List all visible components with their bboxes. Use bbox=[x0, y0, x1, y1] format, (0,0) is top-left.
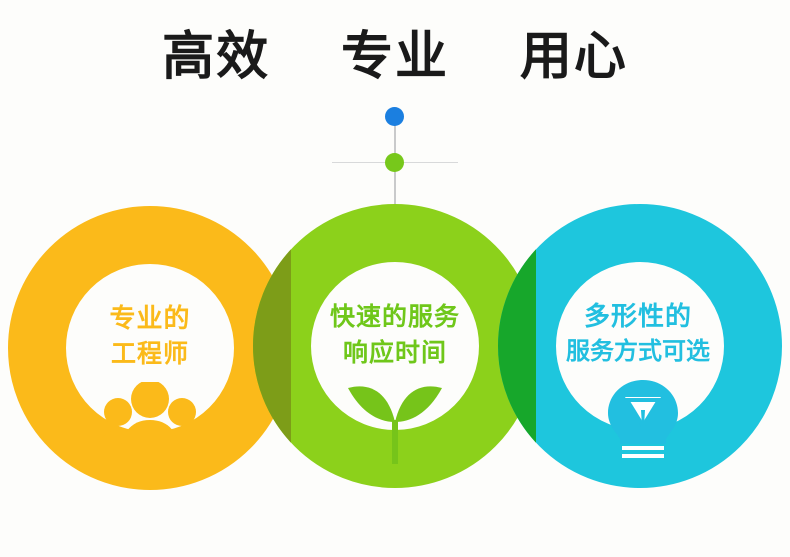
infographic-canvas: 高效 专业 用心 专业的 工程师 快速的服务 bbox=[0, 0, 790, 557]
blue-dot-icon bbox=[385, 107, 404, 126]
headline-word-2: 专业 bbox=[341, 28, 449, 88]
headline-word-1: 高效 bbox=[162, 28, 270, 88]
page-title: 高效 专业 用心 bbox=[0, 28, 790, 88]
circle-service-modes-line2: 服务方式可选 bbox=[533, 335, 743, 369]
circle-response-time-line2: 响应时间 bbox=[290, 336, 500, 372]
circle-response-time-line1: 快速的服务 bbox=[290, 300, 500, 336]
people-group-icon bbox=[94, 382, 206, 463]
lightbulb-icon bbox=[600, 380, 686, 467]
circle-engineers-text: 专业的 工程师 bbox=[45, 300, 255, 372]
sprout-leaf-icon bbox=[340, 378, 450, 469]
circle-engineers-line2: 工程师 bbox=[45, 337, 255, 373]
circle-engineers-line1: 专业的 bbox=[45, 300, 255, 337]
green-dot-icon bbox=[385, 153, 404, 172]
circle-service-modes-line1: 多形性的 bbox=[533, 298, 743, 335]
circle-response-time-text: 快速的服务 响应时间 bbox=[290, 300, 500, 371]
headline-word-3: 用心 bbox=[520, 28, 628, 88]
circle-service-modes-text: 多形性的 服务方式可选 bbox=[533, 298, 743, 369]
